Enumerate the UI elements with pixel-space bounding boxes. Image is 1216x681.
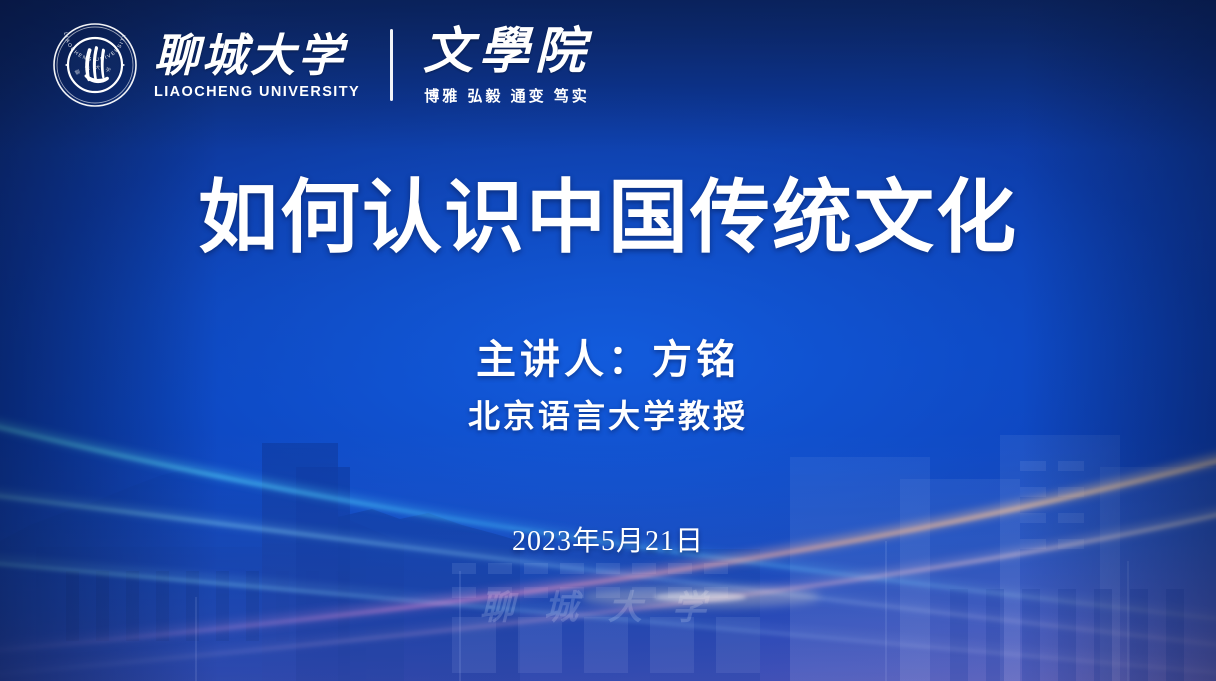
university-name-en: LIAOCHENG UNIVERSITY [154, 84, 360, 100]
page-title: 如何认识中国传统文化 [0, 178, 1216, 258]
brand-divider [390, 29, 393, 101]
college-motto: 博雅 弘毅 通变 笃实 [423, 85, 591, 106]
gate-sign-watermark: 聊城大学 [0, 580, 1216, 629]
presentation-title-slide: 聊城大学 [0, 0, 1216, 681]
university-name-cn: 聊城大学 [154, 34, 360, 79]
brand-lockup[interactable]: LIAOCHENG UNIVERSITY 聊城大学 聊城大学 LIAOCHENG… [52, 22, 591, 108]
liaocheng-university-seal-icon: LIAOCHENG UNIVERSITY 聊城大学 [52, 22, 138, 108]
college-name-block: 文學院 博雅 弘毅 通变 笃实 [423, 24, 591, 106]
speaker-affiliation: 北京语言大学教授 [0, 400, 1216, 432]
university-name-block: 聊城大学 LIAOCHENG UNIVERSITY [154, 30, 360, 100]
speaker-name: 主讲人：方铭 [0, 340, 1216, 380]
event-date: 2023年5月21日 [0, 528, 1216, 556]
college-name-cn: 文學院 [423, 26, 591, 76]
